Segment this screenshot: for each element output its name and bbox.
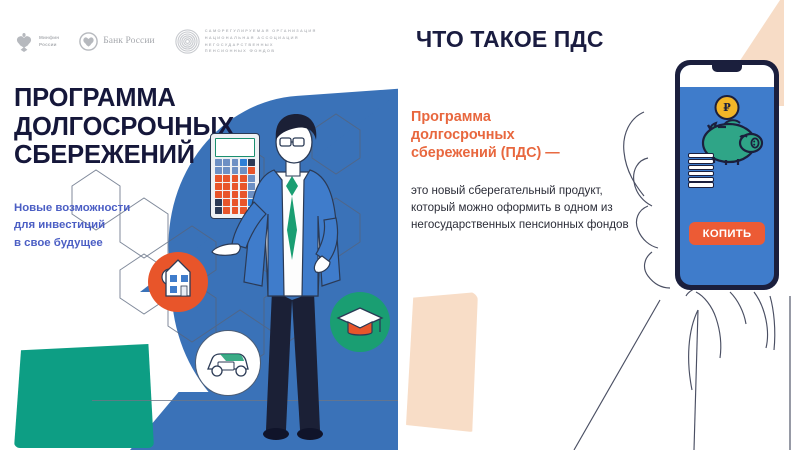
smartphone-mockup: ₽ КОПИТЬ [675, 60, 779, 290]
house-icon [148, 252, 208, 312]
car-icon [196, 331, 260, 395]
badge-education [330, 292, 390, 352]
phone-screen: ₽ КОПИТЬ [680, 65, 774, 285]
save-button[interactable]: КОПИТЬ [689, 222, 765, 245]
coin-stack-icon [688, 153, 714, 175]
graduation-cap-icon [330, 292, 390, 352]
slide-canvas: Минфин России Банк России САМОРЕГУЛ [0, 0, 800, 450]
status-bar [680, 65, 774, 87]
content-panel: ЧТО ТАКОЕ ПДС Программа долгосрочных сбе… [398, 0, 800, 450]
notch [712, 65, 742, 72]
badge-car [195, 330, 261, 396]
poster-panel: Минфин России Банк России САМОРЕГУЛ [0, 0, 398, 450]
badge-house [148, 252, 208, 312]
